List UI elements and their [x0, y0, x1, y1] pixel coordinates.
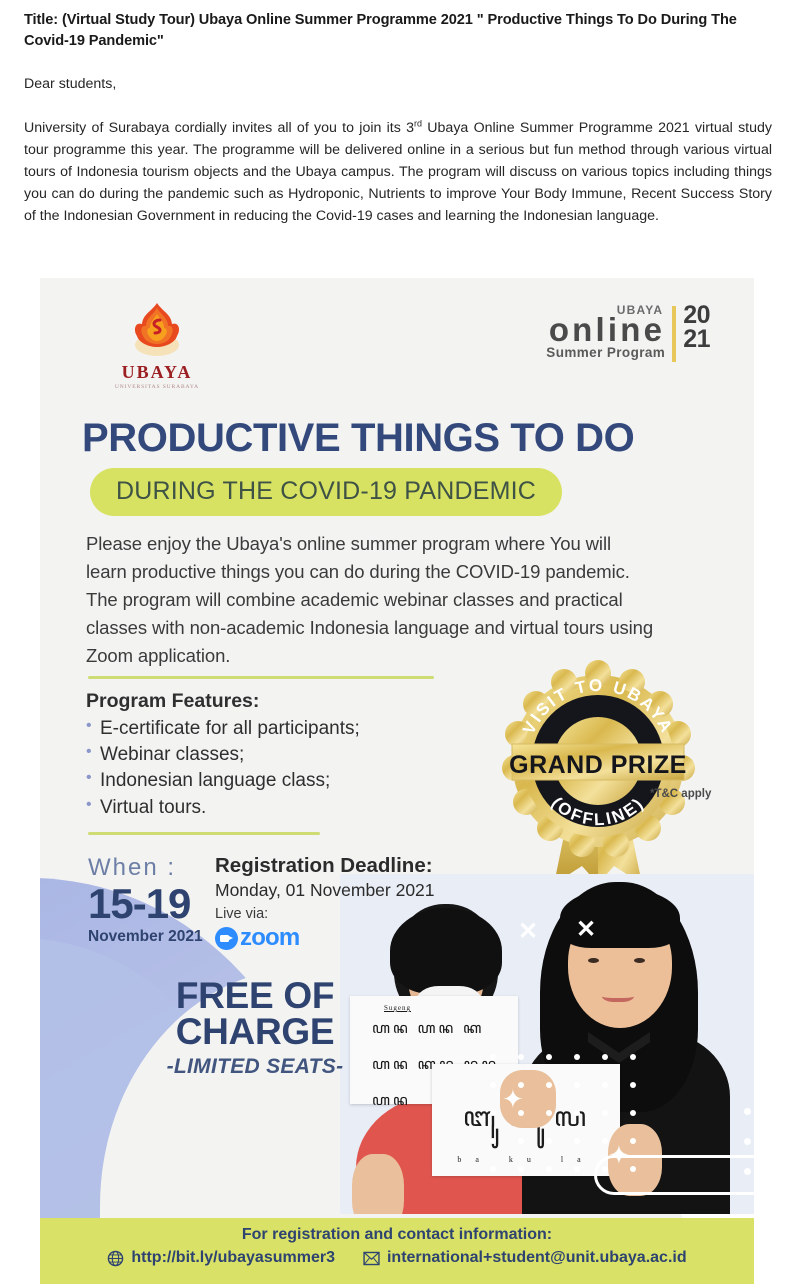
poster-description: Please enjoy the Ubaya's online summer p…	[86, 530, 656, 671]
grand-prize-badge: GRAND PRIZE VISIT TO UBAYA (OFFLINE)	[498, 656, 698, 886]
globe-icon	[107, 1250, 124, 1267]
decorative-pill-outline	[594, 1155, 754, 1195]
when-month: November 2021	[88, 928, 203, 946]
terms-and-conditions-note: *T&C apply	[650, 788, 711, 800]
poster-subheadline-pill: DURING THE COVID-19 PANDEMIC	[90, 468, 562, 516]
program-features-block: Program Features: E-certificate for all …	[86, 690, 426, 821]
zoom-camera-icon	[215, 927, 238, 950]
when-block: When : 15-19 November 2021	[88, 854, 203, 946]
decorative-x-mark-photo-2: ✕	[576, 918, 596, 942]
live-via-label: Live via:	[215, 906, 435, 922]
flame-icon	[127, 300, 187, 358]
divider-line-2	[88, 832, 320, 835]
footer-website[interactable]: http://bit.ly/ubayasummer3	[107, 1249, 335, 1267]
title-text: (Virtual Study Tour) Ubaya Online Summer…	[24, 12, 737, 49]
feature-item: Virtual tours.	[86, 795, 426, 821]
feature-item: Webinar classes;	[86, 742, 426, 768]
footer-email[interactable]: international+student@unit.ubaya.ac.id	[363, 1249, 687, 1267]
ubaya-wordmark: UBAYA	[102, 362, 212, 383]
poster-headline: PRODUCTIVE THINGS TO DO	[82, 418, 634, 458]
zoom-wordmark: zoom	[240, 924, 299, 952]
registration-deadline-date: Monday, 01 November 2021	[215, 880, 435, 901]
poster-footer: For registration and contact information…	[40, 1218, 754, 1284]
divider-line-1	[88, 676, 434, 679]
logo-online-label: online	[546, 315, 665, 345]
limited-seats-label: -LIMITED SEATS-	[140, 1055, 370, 1079]
ubaya-tagline: UNIVERSITAS SURABAYA	[102, 384, 212, 390]
sign-left-line-1: ꦲꦤ ꦲꦤ ꦏ	[372, 1016, 518, 1047]
paragraph-part-1: University of Surabaya cordially invites…	[24, 120, 414, 136]
footer-website-url: http://bit.ly/ubayasummer3	[131, 1249, 335, 1267]
page-root: Title: (Virtual Study Tour) Ubaya Online…	[0, 0, 790, 1284]
when-dates: 15-19	[88, 884, 203, 924]
zoom-logo: zoom	[215, 924, 435, 952]
decorative-x-mark-photo-1: ✕	[518, 920, 538, 944]
feature-item: E-certificate for all participants;	[86, 716, 426, 742]
poster-header: UBAYA UNIVERSITAS SURABAYA UBAYA online …	[40, 278, 754, 398]
free-line-1: FREE OF	[140, 978, 370, 1014]
ordinal-suffix: rd	[414, 119, 422, 129]
logo-divider-bar	[672, 306, 676, 362]
free-of-charge-block: FREE OF CHARGE -LIMITED SEATS-	[140, 978, 370, 1079]
ubaya-logo: UBAYA UNIVERSITAS SURABAYA	[102, 300, 212, 390]
badge-center-text: GRAND PRIZE	[509, 751, 687, 779]
program-features-title: Program Features:	[86, 690, 426, 713]
poster-image: ✕ ✕ UBAYA UNIVERSITAS SURABAYA	[40, 278, 754, 1284]
registration-block: Registration Deadline: Monday, 01 Novemb…	[215, 854, 435, 952]
registration-deadline-title: Registration Deadline:	[215, 854, 435, 878]
title-label: Title:	[24, 12, 58, 28]
sign-left-header: Sugeng	[384, 1004, 518, 1012]
when-label: When :	[88, 854, 203, 882]
free-line-2: CHARGE	[140, 1014, 370, 1050]
greeting-text: Dear students,	[24, 75, 772, 95]
envelope-icon	[363, 1250, 380, 1267]
email-subject-line: Title: (Virtual Study Tour) Ubaya Online…	[24, 10, 772, 51]
intro-paragraph: University of Surabaya cordially invites…	[24, 117, 772, 227]
email-body: Title: (Virtual Study Tour) Ubaya Online…	[24, 10, 772, 227]
logo-summer-program-label: Summer Program	[546, 346, 665, 360]
online-summer-program-logo: UBAYA online Summer Program 20 21	[546, 304, 710, 362]
decorative-sparkle-1: ✦	[502, 1086, 524, 1112]
footer-title: For registration and contact information…	[40, 1218, 754, 1244]
program-features-list: E-certificate for all participants; Webi…	[86, 716, 426, 821]
footer-email-address: international+student@unit.ubaya.ac.id	[387, 1249, 687, 1267]
feature-item: Indonesian language class;	[86, 768, 426, 794]
sign-right-translit: ba ku la	[432, 1155, 620, 1164]
logo-year-bottom: 21	[683, 328, 710, 352]
